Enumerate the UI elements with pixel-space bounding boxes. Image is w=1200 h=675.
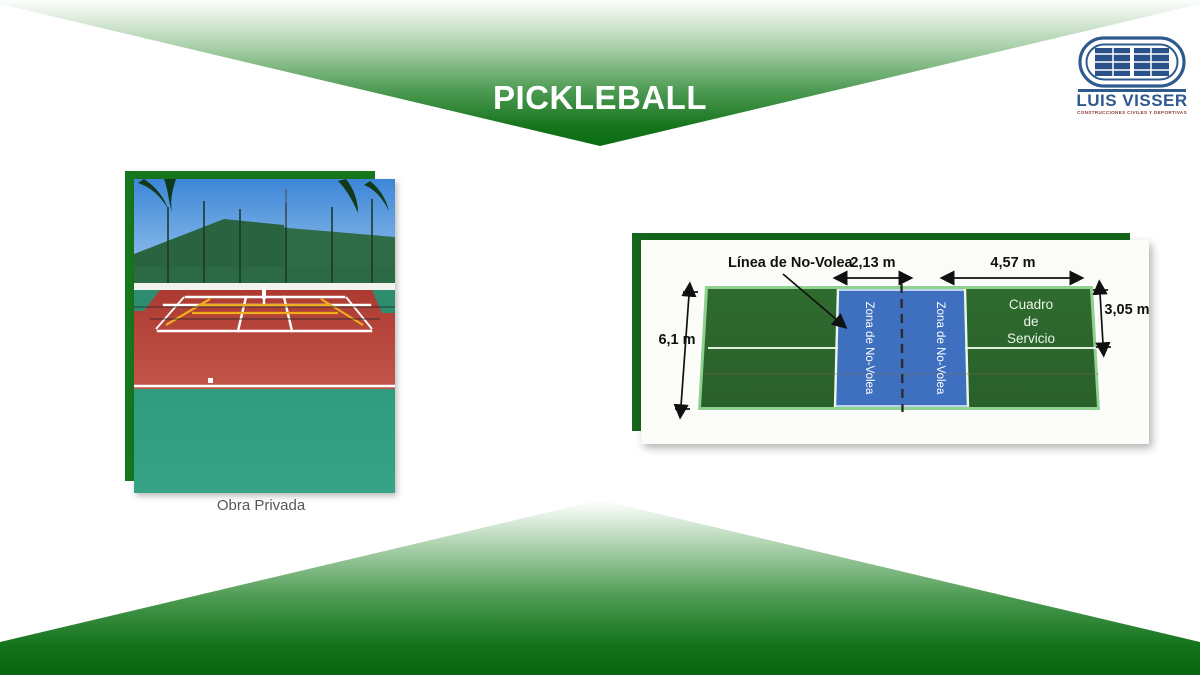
dim-service-width: 3,05 m (1104, 302, 1149, 318)
svg-text:de: de (1023, 314, 1038, 329)
slide-canvas: PICKLEBALL LUIS VISSER CONSTRUCCION (0, 0, 1200, 675)
label-no-volley-line: Línea de No-Volea (728, 255, 854, 271)
company-logo: LUIS VISSER CONSTRUCCIONES CIVILES Y DEP… (1072, 30, 1192, 120)
court-dimensions-diagram: Zona de No-Volea Zona de No-Volea Cuadro… (641, 240, 1149, 444)
bottom-chevron-band (0, 500, 1200, 675)
top-chevron-band (0, 0, 1200, 150)
svg-text:Cuadro: Cuadro (1009, 297, 1053, 312)
dim-kitchen-width: 2,13 m (850, 255, 895, 271)
logo-tagline: CONSTRUCCIONES CIVILES Y DEPORTIVAS (1077, 110, 1187, 115)
logo-court-icon (1080, 38, 1184, 86)
logo-name: LUIS VISSER (1076, 91, 1187, 110)
diagram-block: Zona de No-Volea Zona de No-Volea Cuadro… (632, 233, 1150, 445)
svg-text:Servicio: Servicio (1007, 331, 1055, 346)
photo-block (125, 171, 397, 493)
label-zone-left: Zona de No-Volea (863, 302, 875, 395)
label-zone-right: Zona de No-Volea (934, 302, 946, 395)
net-center-line (902, 284, 903, 412)
court-photo (134, 179, 395, 493)
photo-caption: Obra Privada (125, 497, 397, 514)
page-title: PICKLEBALL (0, 79, 1200, 117)
dim-court-width: 6,1 m (658, 332, 695, 348)
dim-service-depth: 4,57 m (990, 255, 1035, 271)
